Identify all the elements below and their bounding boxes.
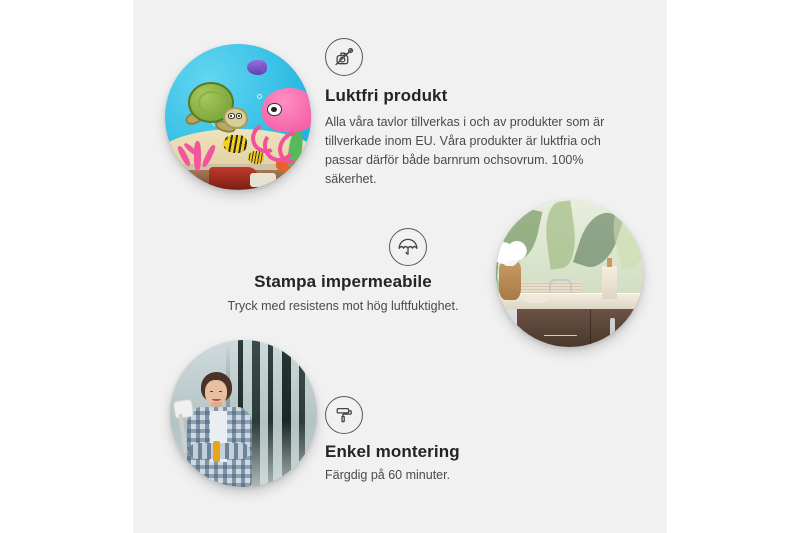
shipwreck-sail xyxy=(250,173,276,188)
coral-icon xyxy=(177,133,221,171)
purple-fish-icon xyxy=(247,60,267,75)
feature-title: Luktfri produkt xyxy=(325,86,625,106)
decorator-person xyxy=(179,372,264,487)
product-image-bathroom[interactable] xyxy=(496,200,643,347)
feature-odourless: Luktfri produkt Alla våra tavlor tillver… xyxy=(325,38,625,189)
content-panel: Luktfri produkt Alla våra tavlor tillver… xyxy=(133,0,667,533)
feature-body: Alla våra tavlor tillverkas i och av pro… xyxy=(325,113,625,189)
small-fish-icon xyxy=(248,151,264,164)
feature-title: Enkel montering xyxy=(325,442,625,462)
product-image-aquarium[interactable] xyxy=(165,44,311,190)
flowers-icon xyxy=(496,240,528,266)
aquarium-scene xyxy=(165,44,311,190)
faucet-icon xyxy=(549,279,573,292)
feature-waterproof: Stampa impermeabile Tryck med resistens … xyxy=(193,228,493,316)
product-image-decorator[interactable] xyxy=(170,340,317,487)
vanity-cabinet xyxy=(517,309,643,347)
umbrella-icon xyxy=(389,228,427,266)
turtle-icon xyxy=(185,82,249,135)
paint-roller-icon xyxy=(325,396,363,434)
decorator-scene xyxy=(170,340,317,487)
paint-roller-icon xyxy=(173,399,194,420)
no-odour-spray-bottle-icon xyxy=(325,38,363,76)
soap-dish-icon xyxy=(525,296,549,303)
vase-icon xyxy=(499,262,521,300)
yellow-fish-icon xyxy=(223,135,246,154)
feature-mounting: Enkel montering Färgdig på 60 minuter. xyxy=(325,396,625,485)
feature-body: Tryck med resistens mot hög luftfuktighe… xyxy=(193,297,493,316)
feature-title: Stampa impermeabile xyxy=(193,272,493,292)
promo-feature-panel: Luktfri produkt Alla våra tavlor tillver… xyxy=(0,0,800,533)
paint-brush-icon xyxy=(213,441,220,462)
feature-body: Färgdig på 60 minuter. xyxy=(325,466,625,485)
bottle-icon xyxy=(602,266,617,298)
bathroom-scene xyxy=(496,200,643,347)
